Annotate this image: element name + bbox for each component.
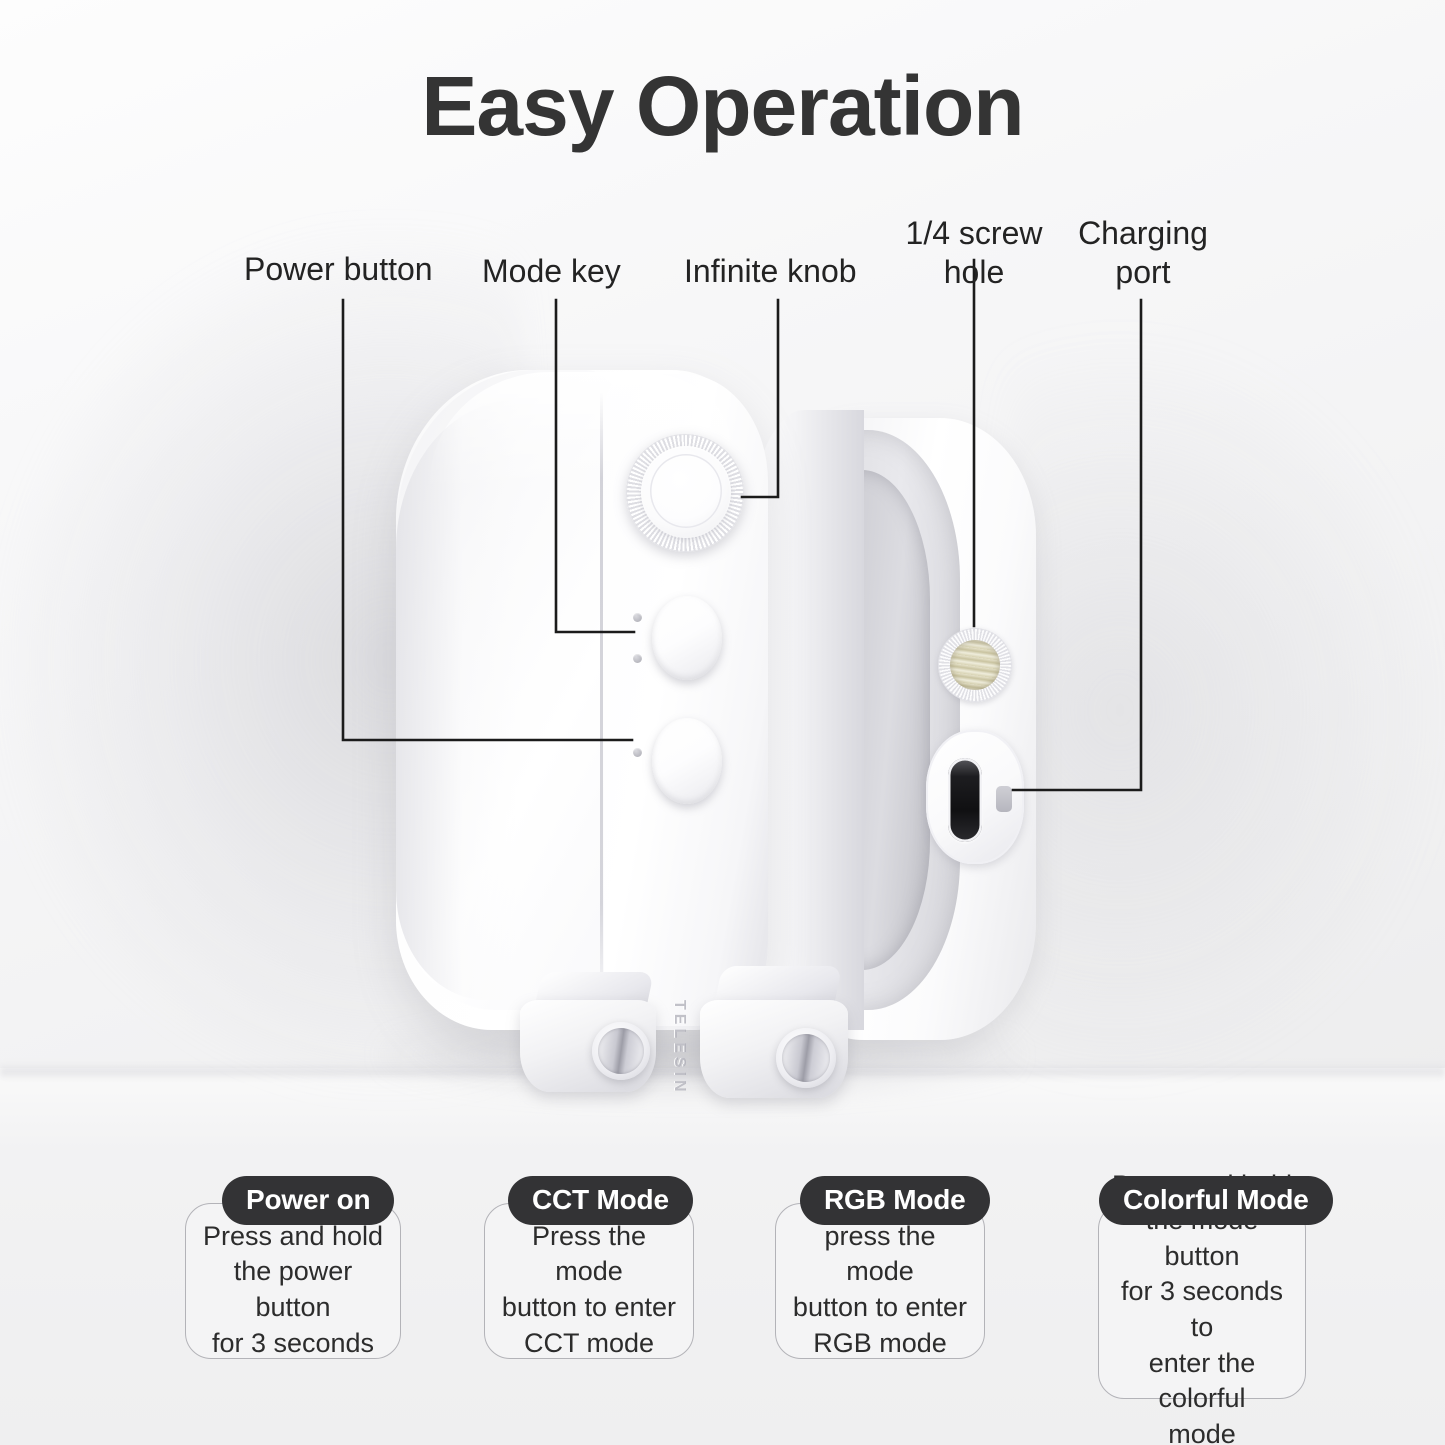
card-cct-mode-text: Press the mode button to enter CCT mode bbox=[497, 1219, 681, 1362]
card-colorful-mode: Press and hold the mode button for 3 sec… bbox=[1098, 1203, 1306, 1399]
infographic-page: Easy Operation T bbox=[0, 0, 1445, 1445]
front-light-body-seam bbox=[600, 392, 603, 1002]
charging-port-cover-tab bbox=[996, 786, 1012, 812]
indicator-led-3 bbox=[633, 748, 642, 757]
badge-cct-mode: CCT Mode bbox=[508, 1176, 693, 1225]
callout-mode-key: Mode key bbox=[482, 252, 621, 291]
indicator-led-1 bbox=[633, 613, 642, 622]
brand-emboss-telesin: TELESIN bbox=[664, 1000, 688, 1140]
front-light-left-shading bbox=[396, 400, 516, 1000]
badge-rgb-mode: RGB Mode bbox=[800, 1176, 990, 1225]
callout-quarter-screw-hole: 1/4 screw hole bbox=[898, 214, 1050, 292]
quarter-screw-hole-thread bbox=[950, 640, 1000, 690]
callout-infinite-knob: Infinite knob bbox=[684, 252, 857, 291]
card-rgb-mode-text: press the mode button to enter RGB mode bbox=[788, 1219, 972, 1362]
infinite-knob-cap[interactable] bbox=[650, 454, 722, 528]
badge-power-on: Power on bbox=[222, 1176, 394, 1225]
indicator-led-2 bbox=[633, 654, 642, 663]
card-power-on: Press and hold the power button for 3 se… bbox=[185, 1203, 401, 1359]
card-power-on-text: Press and hold the power button for 3 se… bbox=[198, 1219, 388, 1362]
callout-charging-port: Charging port bbox=[1068, 214, 1218, 292]
mode-key-button[interactable] bbox=[652, 596, 722, 680]
power-button[interactable] bbox=[652, 718, 722, 804]
mount-thumbscrew-head-right bbox=[782, 1034, 830, 1082]
mount-thumbscrew-head-left bbox=[598, 1028, 644, 1074]
callout-power-button: Power button bbox=[244, 250, 433, 289]
card-cct-mode: Press the mode button to enter CCT mode bbox=[484, 1203, 694, 1359]
card-rgb-mode: press the mode button to enter RGB mode bbox=[775, 1203, 985, 1359]
badge-colorful-mode: Colorful Mode bbox=[1099, 1176, 1333, 1225]
charging-port-usbc-slot bbox=[948, 758, 982, 842]
